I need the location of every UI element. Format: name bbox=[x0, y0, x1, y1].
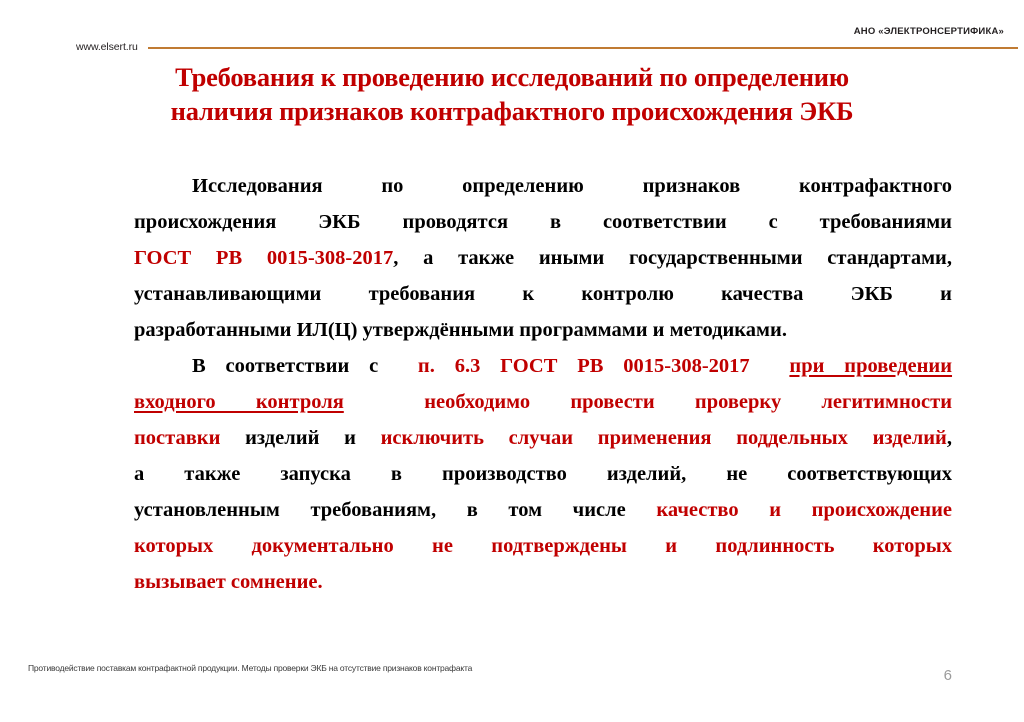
header-divider-line bbox=[148, 47, 1018, 49]
p2-l3-red-a: поставки bbox=[134, 427, 220, 449]
p2-l4-text: а также запуска в производство изделий, … bbox=[134, 463, 952, 485]
page-title: Требования к проведению исследований по … bbox=[62, 60, 962, 128]
site-url: www.elsert.ru bbox=[76, 41, 138, 53]
p1-l2-text: происхождения ЭКБ проводятся в соответст… bbox=[134, 211, 952, 233]
slide-body: Исследования по определению признаков ко… bbox=[76, 168, 952, 600]
paragraph-2-line-5: установленным требованиям, в том числе к… bbox=[76, 492, 952, 528]
paragraph-1: Исследования по определению признаков ко… bbox=[76, 168, 952, 348]
gost-reference-2: п. 6.3 ГОСТ РВ 0015-308-2017 bbox=[418, 355, 750, 377]
paragraph-1-line-3: ГОСТ РВ 0015-308-2017, а также иными гос… bbox=[76, 240, 952, 276]
paragraph-2-line-2: входного контроля необходимо провести пр… bbox=[76, 384, 952, 420]
p2-l6-red: которых документально не подтверждены и … bbox=[134, 535, 952, 557]
p2-l3-red-b: исключить случаи применения поддельных и… bbox=[381, 427, 947, 449]
p2-l5-red: качество и происхождение bbox=[656, 499, 952, 521]
p2-l1-underlined: при проведении bbox=[789, 355, 952, 377]
paragraph-2-line-4: а также запуска в производство изделий, … bbox=[76, 456, 952, 492]
p2-l3-tail: , bbox=[947, 427, 952, 449]
page-title-line-2: наличия признаков контрафактного происхо… bbox=[62, 94, 962, 128]
paragraph-2: В соответствии с п. 6.3 ГОСТ РВ 0015-308… bbox=[76, 348, 952, 600]
page-number: 6 bbox=[944, 667, 952, 684]
slide-header: www.elsert.ru bbox=[0, 34, 1024, 60]
p1-l5-text: разработанными ИЛ(Ц) утверждёнными прогр… bbox=[134, 319, 787, 341]
p2-l2-underlined: входного контроля bbox=[134, 391, 344, 413]
paragraph-2-line-6: которых документально не подтверждены и … bbox=[76, 528, 952, 564]
p2-l7-red: вызывает сомнение. bbox=[134, 571, 323, 593]
paragraph-2-line-3: поставки изделий и исключить случаи прим… bbox=[76, 420, 952, 456]
slide: www.elsert.ru АНО «ЭЛЕКТРОНСЕРТИФИКА» Тр… bbox=[0, 0, 1024, 722]
organization-name: АНО «ЭЛЕКТРОНСЕРТИФИКА» bbox=[854, 26, 1004, 37]
paragraph-2-line-1: В соответствии с п. 6.3 ГОСТ РВ 0015-308… bbox=[76, 348, 952, 384]
p2-l5-black: установленным требованиям, в том числе bbox=[134, 499, 626, 521]
p1-l3-rest: , а также иными государственными стандар… bbox=[393, 247, 952, 269]
paragraph-2-line-7: вызывает сомнение. bbox=[76, 564, 952, 600]
p1-l1-text: Исследования по определению признаков ко… bbox=[192, 175, 952, 197]
p2-l1-black: В соответствии с bbox=[192, 355, 378, 377]
p2-l2-red: необходимо провести проверку легитимност… bbox=[424, 391, 952, 413]
paragraph-1-line-1: Исследования по определению признаков ко… bbox=[76, 168, 952, 204]
paragraph-1-line-2: происхождения ЭКБ проводятся в соответст… bbox=[76, 204, 952, 240]
paragraph-1-line-4: устанавливающими требования к контролю к… bbox=[76, 276, 952, 312]
p1-l4-text: устанавливающими требования к контролю к… bbox=[134, 283, 952, 305]
footer-note: Противодействие поставкам контрафактной … bbox=[28, 663, 472, 673]
gost-reference-1: ГОСТ РВ 0015-308-2017 bbox=[134, 247, 393, 269]
p2-l3-black: изделий и bbox=[245, 427, 356, 449]
paragraph-1-line-5: разработанными ИЛ(Ц) утверждёнными прогр… bbox=[76, 312, 952, 348]
page-title-line-1: Требования к проведению исследований по … bbox=[62, 60, 962, 94]
